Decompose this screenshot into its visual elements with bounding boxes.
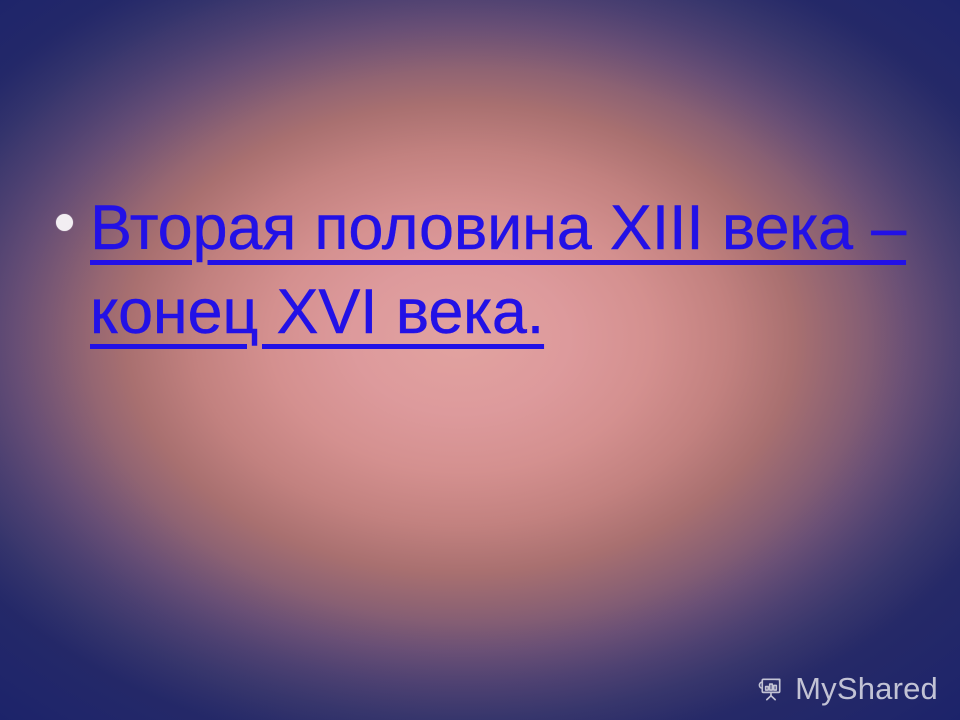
myshared-watermark: MyShared xyxy=(755,673,938,704)
slide-body-text: Вторая половина XIII века – конец XVI ве… xyxy=(90,186,916,354)
bullet-list-item: Вторая половина XIII века – конец XVI ве… xyxy=(56,186,916,354)
slide-content: Вторая половина XIII века – конец XVI ве… xyxy=(0,0,960,720)
bullet-dot-icon xyxy=(56,214,73,231)
myshared-label: MyShared xyxy=(795,673,938,704)
presentation-board-icon xyxy=(755,673,786,704)
presentation-slide: Вторая половина XIII века – конец XVI ве… xyxy=(0,0,960,720)
